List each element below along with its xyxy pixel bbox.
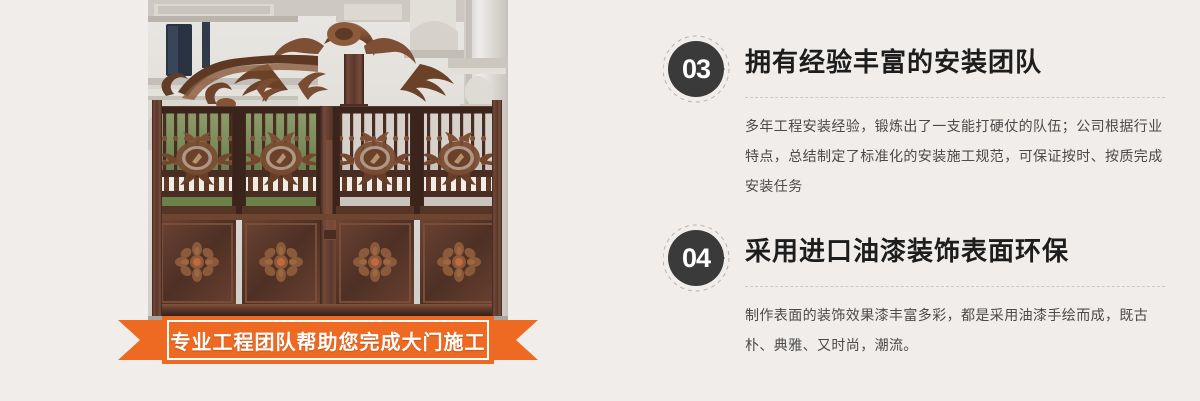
feature-divider [745,97,1165,99]
feature-title: 采用进口油漆装饰表面环保 [745,222,1069,280]
feature-title: 拥有经验丰富的安装团队 [745,33,1042,91]
badge-number: 03 [663,33,729,105]
gate-product-photo [148,0,508,330]
feature-header: 03 拥有经验丰富的安装团队 [663,33,1183,105]
feature-item-04: 04 采用进口油漆装饰表面环保 制作表面的装饰效果漆丰富多彩，都是采用油漆手绘而… [663,222,1183,294]
feature-body-text: 多年工程安装经验，锻炼出了一支能打硬仗的队伍；公司根据行业特点，总结制定了标准化… [745,111,1173,201]
feature-list: 03 拥有经验丰富的安装团队 多年工程安装经验，锻炼出了一支能打硬仗的队伍；公司… [663,0,1183,401]
ribbon-text: 专业工程团队帮助您完成大门施工 [118,316,538,364]
badge-03: 03 [663,33,735,105]
badge-number: 04 [663,222,729,294]
gate-photo-illustration [148,0,508,330]
feature-divider [745,286,1165,288]
feature-header: 04 采用进口油漆装饰表面环保 [663,222,1183,294]
feature-item-03: 03 拥有经验丰富的安装团队 多年工程安装经验，锻炼出了一支能打硬仗的队伍；公司… [663,33,1183,105]
feature-body-text: 制作表面的装饰效果漆丰富多彩，都是采用油漆手绘而成，既古朴、典雅、又时尚，潮流。 [745,300,1173,360]
badge-04: 04 [663,222,735,294]
ribbon-banner: 专业工程团队帮助您完成大门施工 [118,316,538,364]
